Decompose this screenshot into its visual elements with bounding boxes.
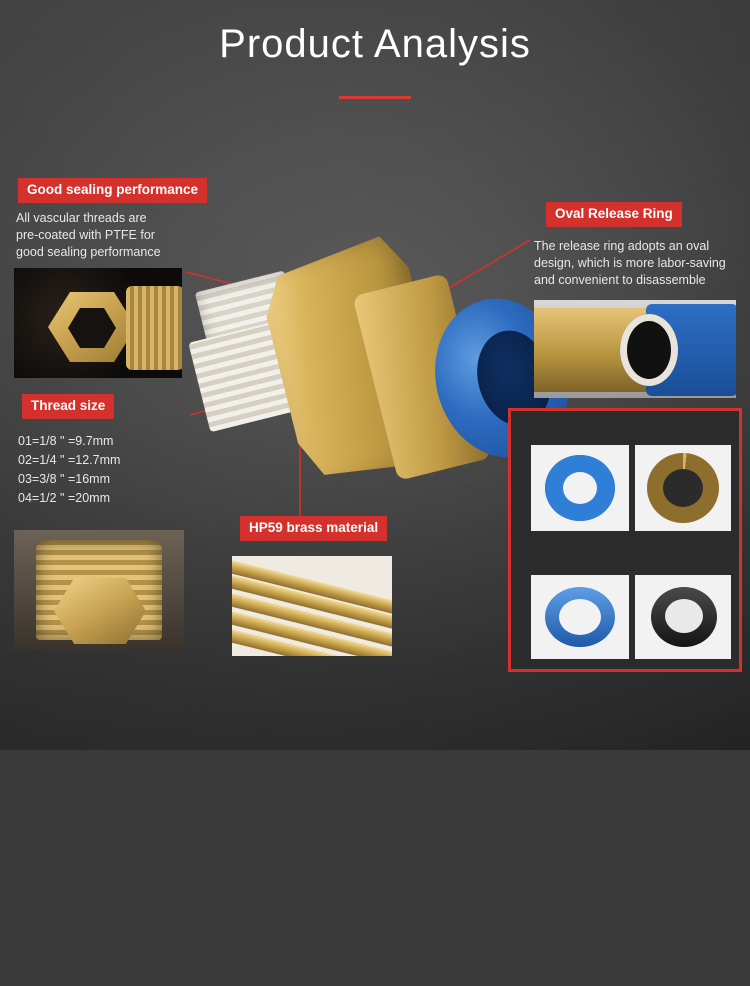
gallery-photo-locking-spring bbox=[635, 445, 731, 531]
tag-thread-size: Thread size bbox=[22, 394, 114, 419]
page-title: Product Analysis bbox=[0, 22, 750, 67]
photo-brass-rods bbox=[232, 556, 392, 656]
photo-thread-ridges bbox=[126, 286, 182, 370]
photo-oval-bore bbox=[620, 314, 678, 386]
text-good-sealing-performance: All vascular threads are pre-coated with… bbox=[16, 210, 226, 261]
title-underline-rule bbox=[339, 96, 411, 99]
component-gallery: Trip locking spring Tight lock Sealing r… bbox=[508, 408, 742, 672]
poster-background: Product Analysis Good sealing performanc… bbox=[0, 0, 750, 750]
tag-oval-release-ring: Oval Release Ring bbox=[546, 202, 682, 227]
tight-lock-hole bbox=[559, 599, 601, 635]
photo-thread-closeup-top bbox=[14, 268, 182, 378]
text-thread-size-list: 01=1/8 " =9.7mm 02=1/4 " =12.7mm 03=3/8 … bbox=[18, 432, 218, 508]
trip-ring-hole bbox=[563, 472, 597, 504]
sealing-ring-hole bbox=[665, 599, 703, 633]
locking-spring-hole bbox=[663, 469, 703, 507]
gallery-photo-trip bbox=[531, 445, 629, 531]
tag-good-sealing-performance: Good sealing performance bbox=[18, 178, 207, 203]
photo-oval-release-ring bbox=[534, 300, 736, 398]
gallery-photo-sealing-ring bbox=[635, 575, 731, 659]
gallery-photo-tight-lock bbox=[531, 575, 629, 659]
product-image bbox=[196, 238, 526, 528]
photo-thread-closeup-bottom bbox=[14, 530, 184, 650]
text-oval-release-ring: The release ring adopts an oval design, … bbox=[534, 238, 749, 289]
tag-hp59-brass-material: HP59 brass material bbox=[240, 516, 387, 541]
